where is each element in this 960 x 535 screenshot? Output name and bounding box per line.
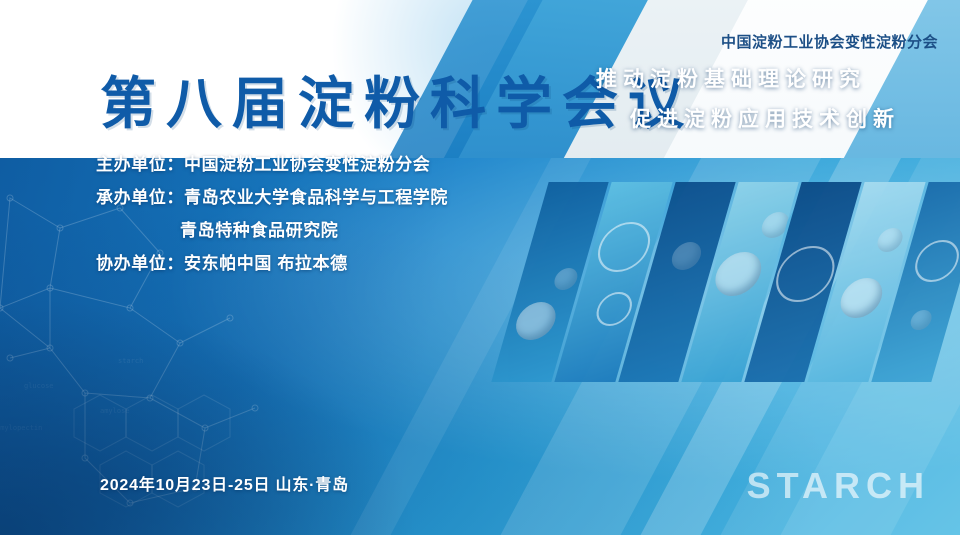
slogan-line-2: 促进淀粉应用技术创新	[630, 100, 900, 140]
starch-watermark: STARCH	[747, 465, 930, 507]
organizer-row-coorganizer: 协办单位：安东帕中国 布拉本德	[96, 247, 448, 280]
organizer-label-undertaker: 承办单位：	[96, 188, 184, 207]
association-name: 中国淀粉工业协会变性淀粉分会	[721, 31, 938, 52]
organizer-label-host: 主办单位：	[96, 155, 184, 174]
organizer-list: 主办单位：中国淀粉工业协会变性淀粉分会 承办单位：青岛农业大学食品科学与工程学院…	[96, 148, 448, 281]
slogan-line-1: 推动淀粉基础理论研究	[596, 67, 866, 91]
organizer-row-undertaker-2: 青岛特种食品研究院	[96, 214, 448, 247]
organizer-value-undertaker: 青岛农业大学食品科学与工程学院	[184, 188, 448, 207]
organizer-label-coorganizer: 协办单位：	[96, 254, 184, 273]
conference-poster: 中国淀粉工业协会变性淀粉分会 第八届淀粉科学会议	[0, 0, 960, 535]
body-vignette	[0, 295, 420, 535]
organizer-value-undertaker-2: 青岛特种食品研究院	[180, 221, 338, 240]
date-location: 2024年10月23日-25日 山东·青岛	[100, 471, 349, 495]
image-collage-strip	[491, 182, 960, 382]
slogan: 推动淀粉基础理论研究 促进淀粉应用技术创新	[596, 60, 900, 140]
organizer-value-coorganizer: 安东帕中国 布拉本德	[184, 254, 348, 273]
organizer-row-host: 主办单位：中国淀粉工业协会变性淀粉分会	[96, 148, 448, 181]
organizer-value-host: 中国淀粉工业协会变性淀粉分会	[184, 155, 430, 174]
organizer-row-undertaker: 承办单位：青岛农业大学食品科学与工程学院	[96, 181, 448, 214]
